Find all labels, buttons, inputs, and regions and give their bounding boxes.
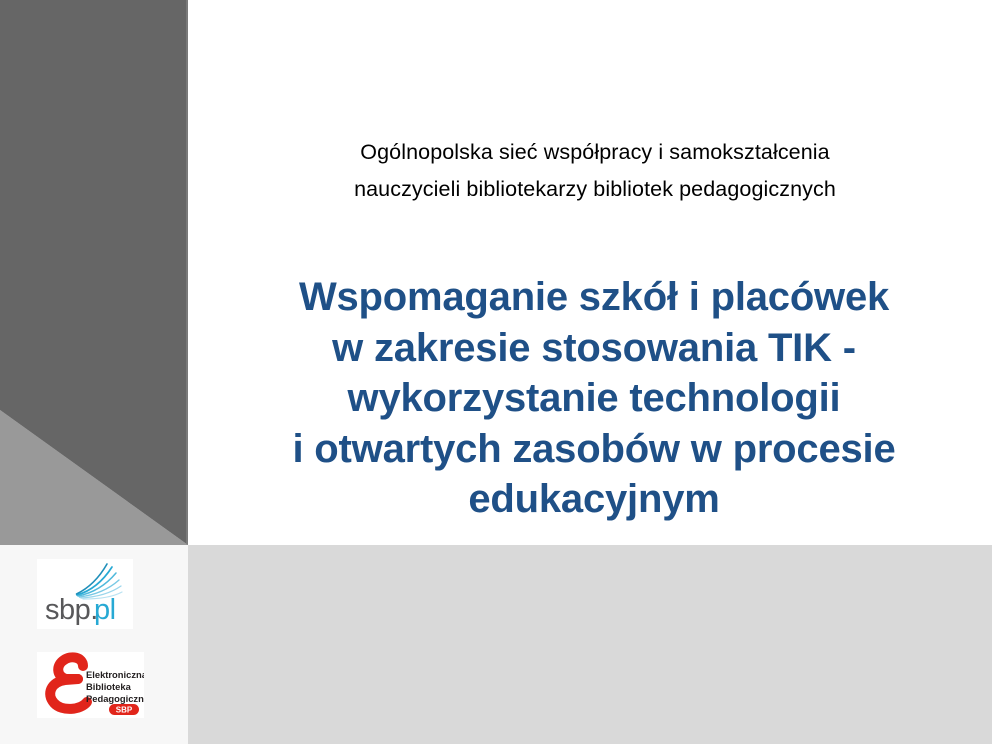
sbp-wordmark-dark: sbp. — [45, 594, 98, 626]
slide-title: Wspomaganie szkół i placówek w zakresie … — [196, 272, 992, 525]
subtitle-line-1: Ogólnopolska sieć współpracy i samokszta… — [212, 134, 978, 171]
title-line-4: i otwartych zasobów w procesie — [196, 424, 992, 475]
subtitle-line-2: nauczycieli bibliotekarzy bibliotek peda… — [212, 171, 978, 208]
ebp-line-2: Biblioteka — [86, 681, 132, 692]
sbp-pl-logo-graphic: sbp. pl — [37, 559, 133, 629]
sbp-pl-logo: sbp. pl — [37, 559, 133, 629]
panel-edge-highlight — [186, 0, 188, 545]
ebp-line-3: Pedagogiczna — [86, 693, 144, 704]
slide-subtitle: Ogólnopolska sieć współpracy i samokszta… — [212, 134, 978, 208]
elektroniczna-biblioteka-pedagogiczna-logo: Elektroniczna Biblioteka Pedagogiczna SB… — [37, 652, 144, 718]
footer-band — [188, 545, 992, 744]
ebp-line-1: Elektroniczna — [86, 669, 144, 680]
sbp-wordmark-accent: pl — [94, 594, 116, 626]
ebp-sbp-badge-label: SBP — [116, 706, 133, 715]
title-line-1: Wspomaganie szkół i placówek — [196, 272, 992, 323]
title-line-5: edukacyjnym — [196, 474, 992, 525]
presentation-slide: Ogólnopolska sieć współpracy i samokszta… — [0, 0, 992, 744]
ebp-sbp-badge: SBP — [109, 704, 139, 715]
title-line-3: wykorzystanie technologii — [196, 373, 992, 424]
ebp-logo-graphic: Elektroniczna Biblioteka Pedagogiczna SB… — [37, 652, 144, 718]
title-line-2: w zakresie stosowania TIK - — [196, 323, 992, 374]
